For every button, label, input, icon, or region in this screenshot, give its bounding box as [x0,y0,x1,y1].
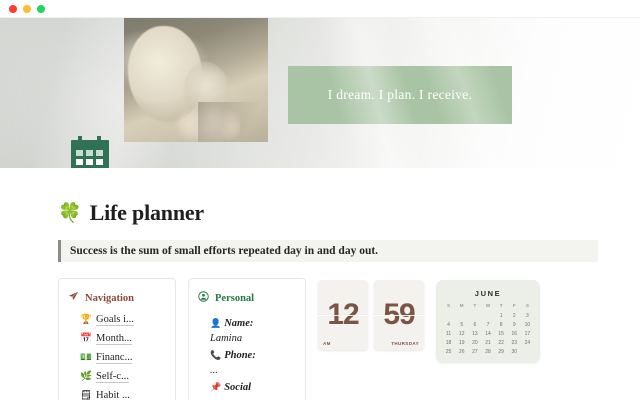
calendar-dow: M [455,303,468,310]
calendar-day[interactable]: 14 [481,331,494,337]
calendar-day[interactable]: 12 [455,331,468,337]
personal-card-title: Personal [215,293,254,304]
navigation-card-title: Navigation [85,293,134,304]
close-button[interactable] [9,5,17,13]
flip-seam [318,315,368,316]
banner-photo [124,18,268,142]
calendar-day[interactable]: 19 [455,340,468,346]
clock-minutes-panel: 59 THURSDAY [374,280,424,350]
person-circle-icon [198,289,209,307]
calendar-day[interactable]: 1 [495,313,508,319]
navigation-card: Navigation 🏆 Goals i... 📅 Month... 💵 Fin… [58,278,176,400]
calendar-day[interactable]: 22 [495,340,508,346]
clock-weekday: THURSDAY [391,341,419,346]
calendar-dow: W [481,303,494,310]
quote-callout: Success is the sum of small efforts repe… [58,240,598,262]
nav-link-label[interactable]: Goals i... [96,314,134,326]
banner-quote-box: I dream. I plan. I receive. [288,66,512,124]
calendar-day[interactable] [455,313,468,319]
money-icon: 💵 [80,353,92,363]
flip-seam [374,315,424,316]
list-item[interactable]: 🌿 Self-c... [80,371,166,383]
app-window: I dream. I plan. I receive. 🍀 Life plann… [0,0,640,400]
calendar-day[interactable]: 11 [442,331,455,337]
calendar-day[interactable]: 26 [455,349,468,355]
trophy-icon: 🏆 [80,315,92,325]
phone-icon: 📞 [210,351,221,360]
clock-hours-panel: 12 AM [318,280,368,350]
calendar-day[interactable]: 8 [495,322,508,328]
photo-shadow [198,102,268,142]
calendar-day[interactable]: 24 [521,340,534,346]
calendar-day[interactable]: 10 [521,322,534,328]
calendar-day[interactable] [468,313,481,319]
calendar-day[interactable]: 13 [468,331,481,337]
navigation-card-header: Navigation [68,289,166,307]
page-body: 🍀 Life planner Success is the sum of sma… [0,200,640,400]
clover-icon: 🍀 [58,204,82,223]
calendar-day[interactable]: 20 [468,340,481,346]
page-title[interactable]: Life planner [90,200,204,226]
calendar-day[interactable]: 18 [442,340,455,346]
personal-fields: 👤 Name: Lamina 📞 Phone: ... 📌 Social [210,314,296,393]
window-titlebar [0,0,640,18]
quote-callout-text: Success is the sum of small efforts repe… [61,245,378,257]
leaf-icon: 🌿 [80,372,92,382]
calendar-dow: T [495,303,508,310]
calendar-day[interactable]: 2 [508,313,521,319]
calendar-day[interactable]: 16 [508,331,521,337]
page-banner: I dream. I plan. I receive. [0,18,640,168]
list-item[interactable]: 🗒 Habit ... [80,390,166,400]
field-label: Social [224,382,251,393]
field-value[interactable]: ... [210,365,296,376]
calendar-dow: F [508,303,521,310]
field-label: Name: [224,318,253,329]
person-icon: 👤 [210,319,221,328]
widgets-row: Navigation 🏆 Goals i... 📅 Month... 💵 Fin… [58,278,640,400]
list-item[interactable]: 💵 Financ... [80,352,166,364]
pin-icon: 📌 [210,383,221,392]
checklist-icon: 🗒 [80,391,92,400]
calendar-day[interactable]: 23 [508,340,521,346]
clock-meridiem: AM [323,341,331,346]
nav-link-label[interactable]: Self-c... [96,371,129,383]
maximize-button[interactable] [37,5,45,13]
nav-link-label[interactable]: Financ... [96,352,132,364]
calendar-day[interactable]: 28 [481,349,494,355]
flip-clock-widget: 12 AM 59 THURSDAY [318,280,424,350]
calendar-day[interactable] [481,313,494,319]
navigation-list: 🏆 Goals i... 📅 Month... 💵 Financ... 🌿 Se… [80,314,166,400]
personal-field-social: 📌 Social [210,382,296,393]
field-value[interactable]: Lamina [210,333,296,344]
paper-plane-icon [68,289,79,307]
calendar-day[interactable]: 6 [468,322,481,328]
calendar-day[interactable]: 30 [508,349,521,355]
banner-quote-text: I dream. I plan. I receive. [328,87,473,103]
list-item[interactable]: 📅 Month... [80,333,166,345]
calendar-day[interactable]: 5 [455,322,468,328]
calendar-day[interactable]: 21 [481,340,494,346]
calendar-day[interactable]: 7 [481,322,494,328]
personal-card-header: Personal [198,289,296,307]
calendar-dow: S [521,303,534,310]
calendar-widget: JUNE S M T W T F S 1 2 3 4 [436,280,540,363]
nav-link-label[interactable]: Habit ... [96,390,130,400]
calendar-icon: 📅 [80,334,92,344]
list-item[interactable]: 🏆 Goals i... [80,314,166,326]
page-title-row: 🍀 Life planner [58,200,640,226]
calendar-day[interactable]: 4 [442,322,455,328]
calendar-month-label: JUNE [442,287,534,303]
calendar-day[interactable]: 17 [521,331,534,337]
calendar-day[interactable]: 25 [442,349,455,355]
calendar-dow: T [468,303,481,310]
calendar-day[interactable]: 9 [508,322,521,328]
calendar-day[interactable]: 29 [495,349,508,355]
field-label: Phone: [224,350,256,361]
personal-field-phone: 📞 Phone: [210,350,296,361]
minimize-button[interactable] [23,5,31,13]
personal-field-name: 👤 Name: [210,318,296,329]
nav-link-label[interactable]: Month... [96,333,132,345]
calendar-icon[interactable] [71,136,109,168]
calendar-day[interactable]: 15 [495,331,508,337]
calendar-day[interactable]: 3 [521,313,534,319]
calendar-day[interactable] [442,313,455,319]
calendar-day[interactable]: 27 [468,349,481,355]
calendar-dow: S [442,303,455,310]
calendar-day[interactable] [521,349,534,355]
calendar-grid: S M T W T F S 1 2 3 4 5 6 [442,303,534,355]
personal-card: Personal 👤 Name: Lamina 📞 Phone: ... 📌 [188,278,306,400]
